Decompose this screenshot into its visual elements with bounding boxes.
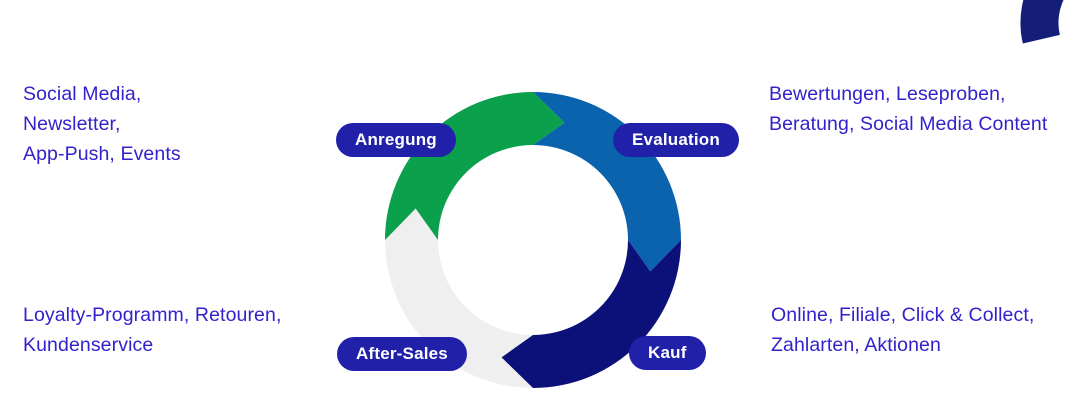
cycle-label-anregung-text: Anregung xyxy=(355,130,437,150)
cycle-label-evaluation-text: Evaluation xyxy=(632,130,720,150)
cycle-label-after-sales-text: After-Sales xyxy=(356,344,448,364)
cycle-label-after-sales[interactable]: After-Sales xyxy=(337,337,467,371)
annotation-kauf: Online, Filiale, Click & Collect, Zahlar… xyxy=(771,300,1034,360)
annotation-evaluation: Bewertungen, Leseproben, Beratung, Socia… xyxy=(769,79,1047,139)
cycle-label-anregung[interactable]: Anregung xyxy=(336,123,456,157)
cycle-label-evaluation[interactable]: Evaluation xyxy=(613,123,739,157)
corner-arc-decoration xyxy=(980,0,1090,60)
cycle-label-kauf[interactable]: Kauf xyxy=(629,336,706,370)
corner-arc-shape xyxy=(1002,0,1090,43)
cycle-label-kauf-text: Kauf xyxy=(648,343,687,363)
annotation-anregung: Social Media, Newsletter, App-Push, Even… xyxy=(23,79,181,169)
annotation-after-sales: Loyalty-Programm, Retouren, Kundenservic… xyxy=(23,300,281,360)
slide-canvas: Anregung Evaluation Kauf After-Sales Soc… xyxy=(0,0,1090,418)
